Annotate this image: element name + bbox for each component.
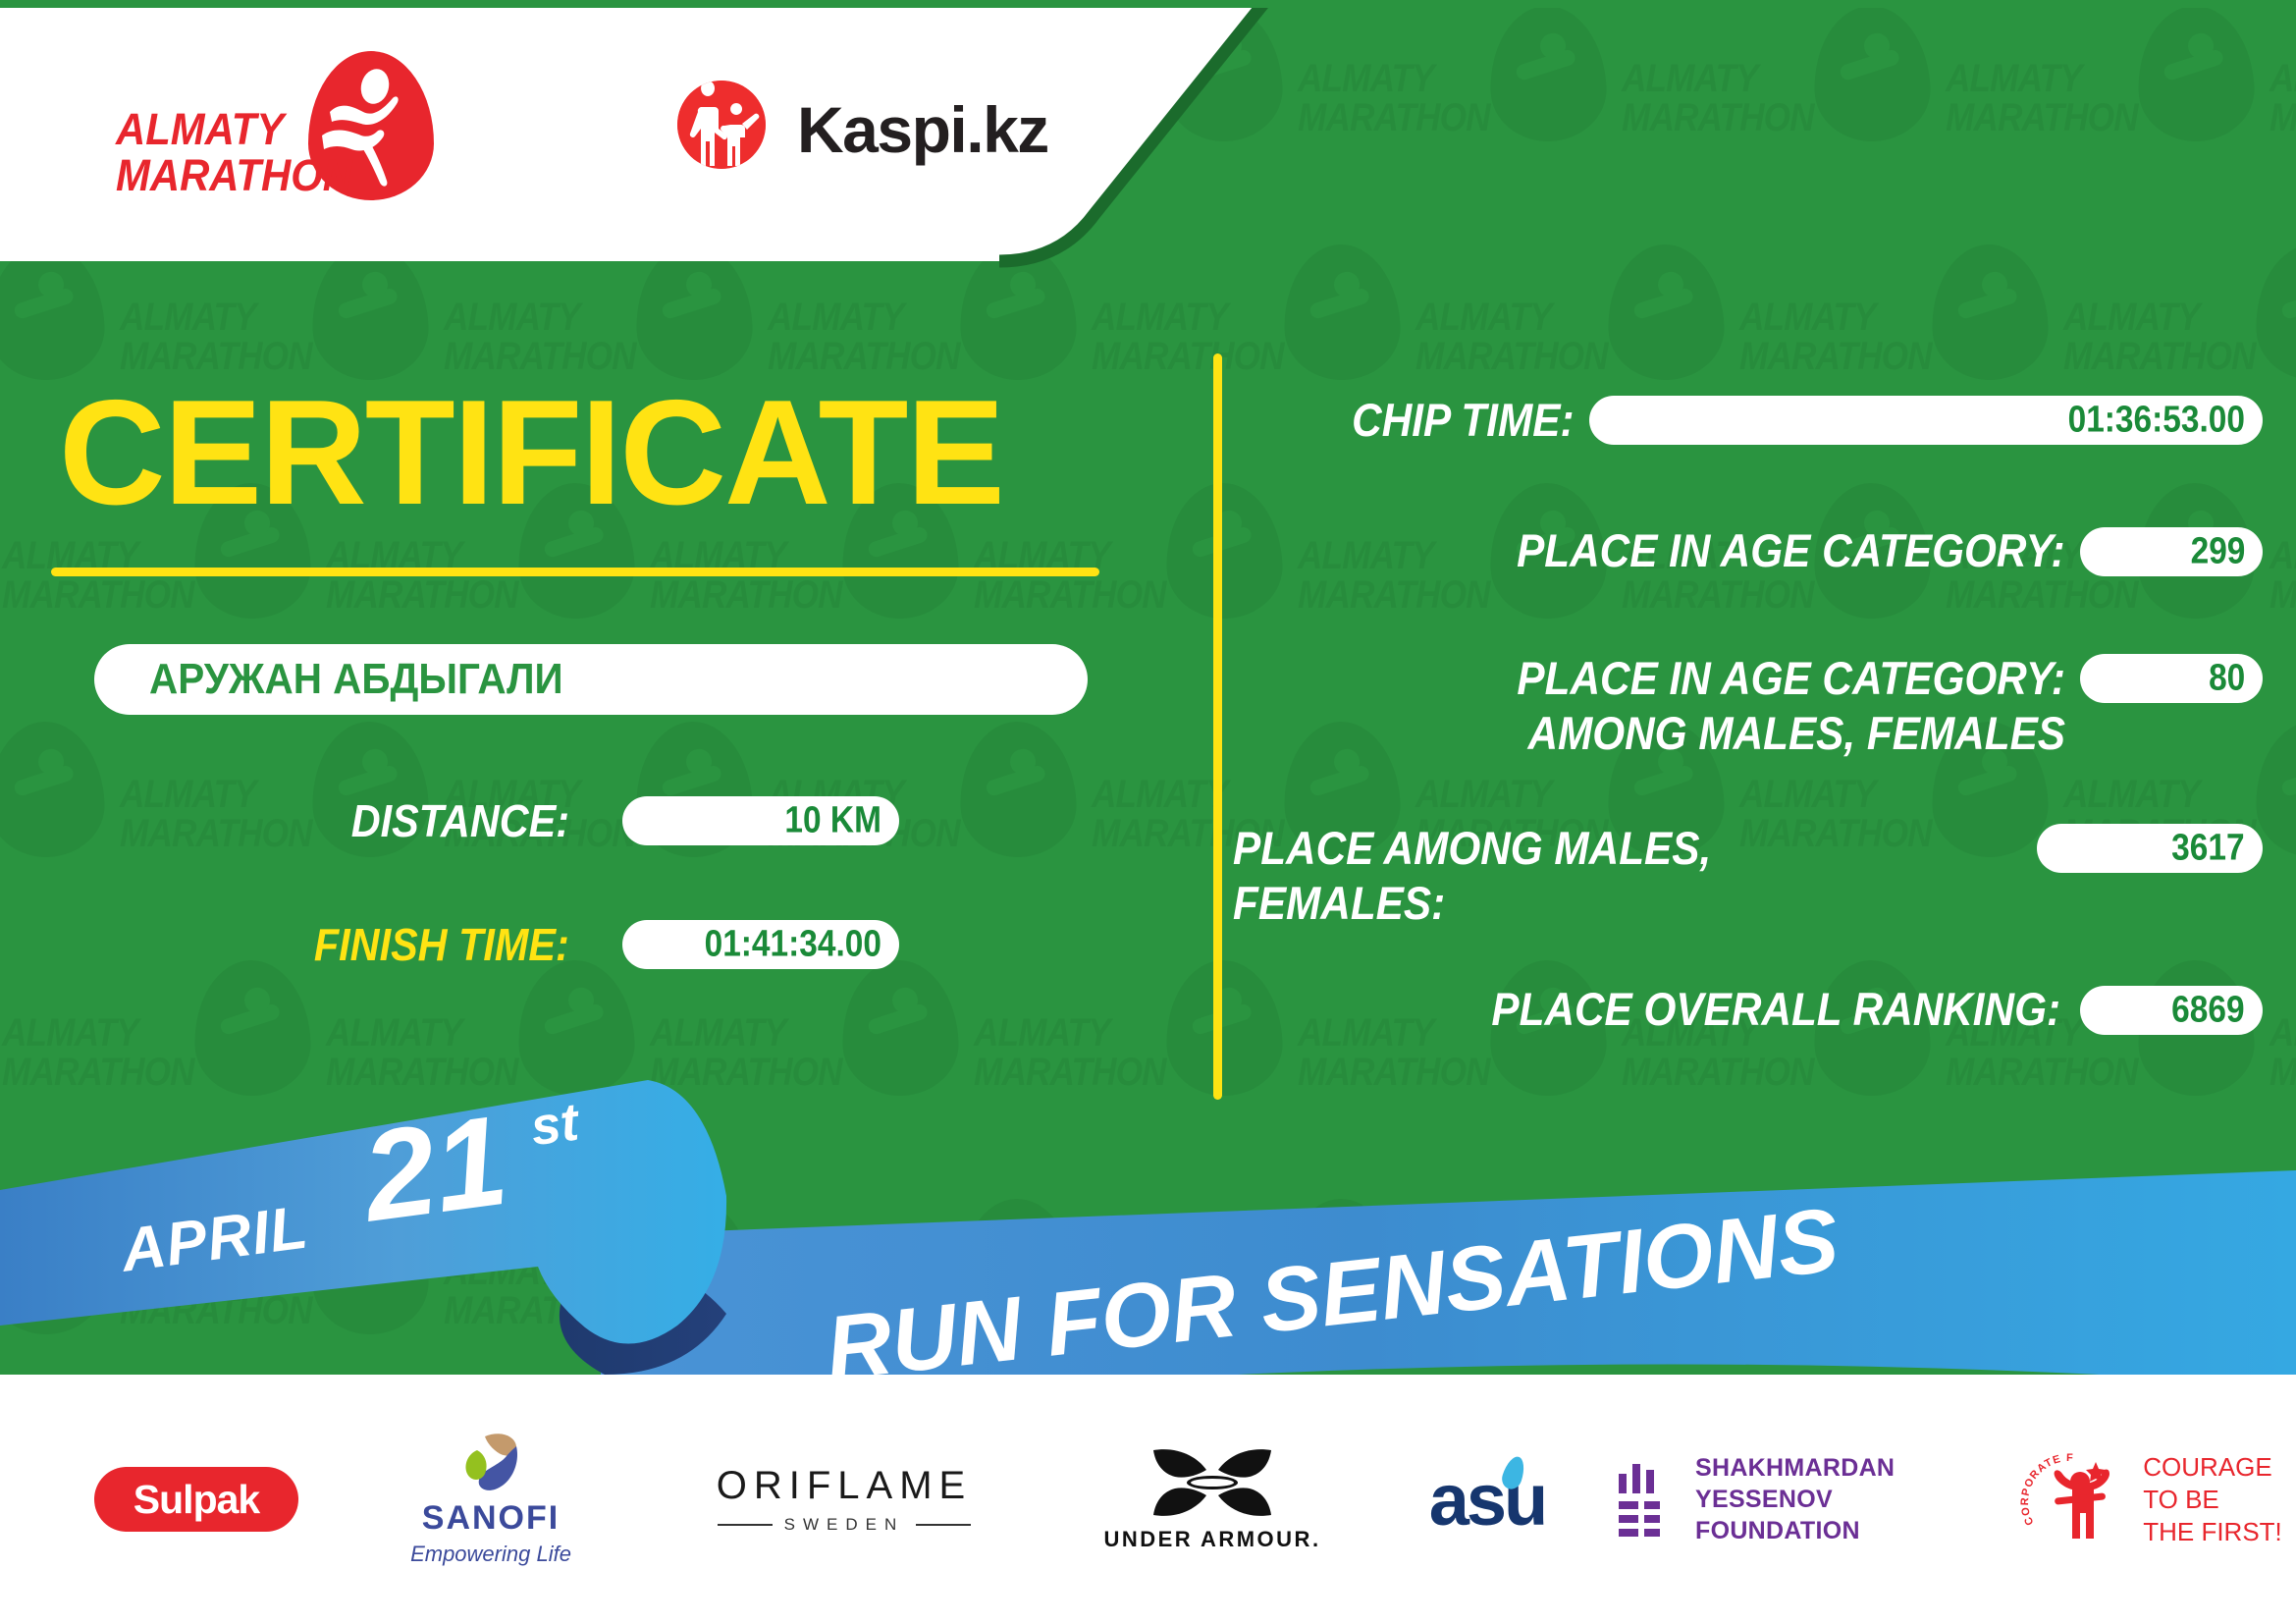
chip-time-label: CHIP TIME: — [1353, 393, 1575, 448]
right-column-results: CHIP TIME: 01:36:53.00 PLACE IN AGE CATE… — [1237, 0, 2296, 1110]
finish-time-value-pill: 01:41:34.00 — [622, 920, 899, 969]
courage-wordmark: COURAGE TO BE THE FIRST! — [2143, 1451, 2282, 1548]
oriflame-country: SWEDEN — [784, 1515, 905, 1535]
sanofi-logo: SANOFI Empowering Life — [383, 1433, 599, 1567]
distance-row: DISTANCE: — [157, 793, 569, 848]
yessenov-mark-icon — [1615, 1460, 1670, 1539]
place-overall-label: PLACE OVERALL RANKING: — [1491, 982, 2060, 1037]
chip-time-value: 01:36:53.00 — [2068, 400, 2245, 442]
sponsor-bar: Sulpak SANOFI Empowering Life ORIFLAME — [0, 1375, 2296, 1624]
athlete-name-value: АРУЖАН АБДЫГАЛИ — [149, 655, 563, 704]
courage-line-3: THE FIRST! — [2143, 1516, 2282, 1548]
courage-line-1: COURAGE — [2143, 1451, 2282, 1484]
sponsor-sulpak: Sulpak — [59, 1375, 334, 1624]
certificate-canvas: ALMATYMARATHONALMATYMARATHONALMATYMARATH… — [0, 0, 2296, 1624]
distance-value: 10 KM — [785, 800, 881, 842]
place-age-category-gender-value: 80 — [2209, 658, 2245, 700]
page-title: CERTIFICATE — [59, 378, 1003, 527]
place-age-category-gender-label: PLACE IN AGE CATEGORY: AMONG MALES, FEMA… — [1359, 651, 2065, 761]
rule-right — [916, 1524, 971, 1526]
courage-runner-icon: CORPORATE FUND — [2027, 1448, 2129, 1550]
sponsor-oriflame: ORIFLAME SWEDEN — [648, 1375, 1041, 1624]
place-age-category-value: 299 — [2190, 531, 2245, 573]
place-among-gender-row: PLACE AMONG MALES, FEMALES: — [1233, 821, 1979, 931]
sponsor-courage-fund: CORPORATE FUND COURAGE TO BE THE FIRST! — [2022, 1375, 2287, 1624]
distance-value-pill: 10 KM — [622, 796, 899, 845]
place-overall-value-pill: 6869 — [2080, 986, 2263, 1035]
title-underline-rule — [51, 568, 1099, 576]
event-day-ordinal: st — [527, 1092, 582, 1159]
label-line-2: AMONG MALES, FEMALES — [1359, 706, 2065, 761]
sponsor-yessenov-foundation: SHAKHMARDAN YESSENOV FOUNDATION — [1615, 1375, 2037, 1624]
sponsor-asu: asu — [1364, 1375, 1610, 1624]
place-overall-value: 6869 — [2172, 990, 2245, 1032]
top-green-strip — [0, 0, 2296, 8]
place-age-category-label: PLACE IN AGE CATEGORY: — [1517, 523, 2065, 578]
oriflame-sub: SWEDEN — [717, 1515, 972, 1535]
courage-line-2: TO BE — [2143, 1484, 2282, 1516]
under-armour-logo: UNDER ARMOUR. — [1103, 1446, 1320, 1552]
place-among-gender-value: 3617 — [2172, 828, 2245, 870]
sanofi-wordmark: SANOFI — [383, 1499, 599, 1538]
place-age-category-gender-row: PLACE IN AGE CATEGORY: AMONG MALES, FEMA… — [1280, 651, 2065, 761]
yessenov-line-1: SHAKHMARDAN YESSENOV — [1695, 1452, 2037, 1515]
finish-time-label: FINISH TIME: — [314, 918, 569, 971]
finish-time-row: FINISH TIME: — [157, 917, 569, 972]
yessenov-wordmark: SHAKHMARDAN YESSENOV FOUNDATION — [1695, 1452, 2037, 1546]
event-day: 21 — [356, 1096, 513, 1241]
label-line-1: PLACE IN AGE CATEGORY: — [1359, 651, 2065, 706]
yessenov-logo: SHAKHMARDAN YESSENOV FOUNDATION — [1615, 1452, 2037, 1546]
place-among-gender-label: PLACE AMONG MALES, FEMALES: — [1233, 821, 1904, 931]
asu-wordmark: asu — [1429, 1458, 1546, 1542]
place-among-gender-value-pill: 3617 — [2037, 824, 2263, 873]
sanofi-tagline: Empowering Life — [383, 1542, 599, 1567]
oriflame-logo: ORIFLAME SWEDEN — [717, 1464, 972, 1535]
label-line-2: FEMALES: — [1233, 876, 1904, 931]
courage-fund-logo: CORPORATE FUND COURAGE TO BE THE FIRST! — [2027, 1448, 2282, 1550]
sulpak-wordmark: Sulpak — [133, 1477, 259, 1523]
place-age-category-value-pill: 299 — [2080, 527, 2263, 576]
under-armour-mark-icon — [1149, 1446, 1275, 1519]
sanofi-mark-icon — [455, 1433, 526, 1493]
athlete-name-field: АРУЖАН АБДЫГАЛИ — [94, 644, 1088, 715]
rule-left — [718, 1524, 773, 1526]
left-column: CERTIFICATE АРУЖАН АБДЫГАЛИ DISTANCE: 10… — [0, 0, 1178, 1110]
oriflame-wordmark: ORIFLAME — [717, 1464, 972, 1508]
yessenov-line-2: FOUNDATION — [1695, 1515, 2037, 1546]
place-age-category-gender-value-pill: 80 — [2080, 654, 2263, 703]
distance-label: DISTANCE: — [351, 794, 569, 847]
finish-time-value: 01:41:34.00 — [705, 924, 881, 966]
chip-time-value-pill: 01:36:53.00 — [1589, 396, 2263, 445]
sponsor-sanofi: SANOFI Empowering Life — [358, 1375, 623, 1624]
sulpak-logo: Sulpak — [94, 1467, 298, 1532]
sponsor-under-armour: UNDER ARMOUR. — [1065, 1375, 1360, 1624]
label-line-1: PLACE AMONG MALES, — [1233, 821, 1904, 876]
column-divider — [1213, 353, 1222, 1100]
under-armour-wordmark: UNDER ARMOUR. — [1103, 1527, 1320, 1552]
asu-logo: asu — [1429, 1458, 1546, 1542]
